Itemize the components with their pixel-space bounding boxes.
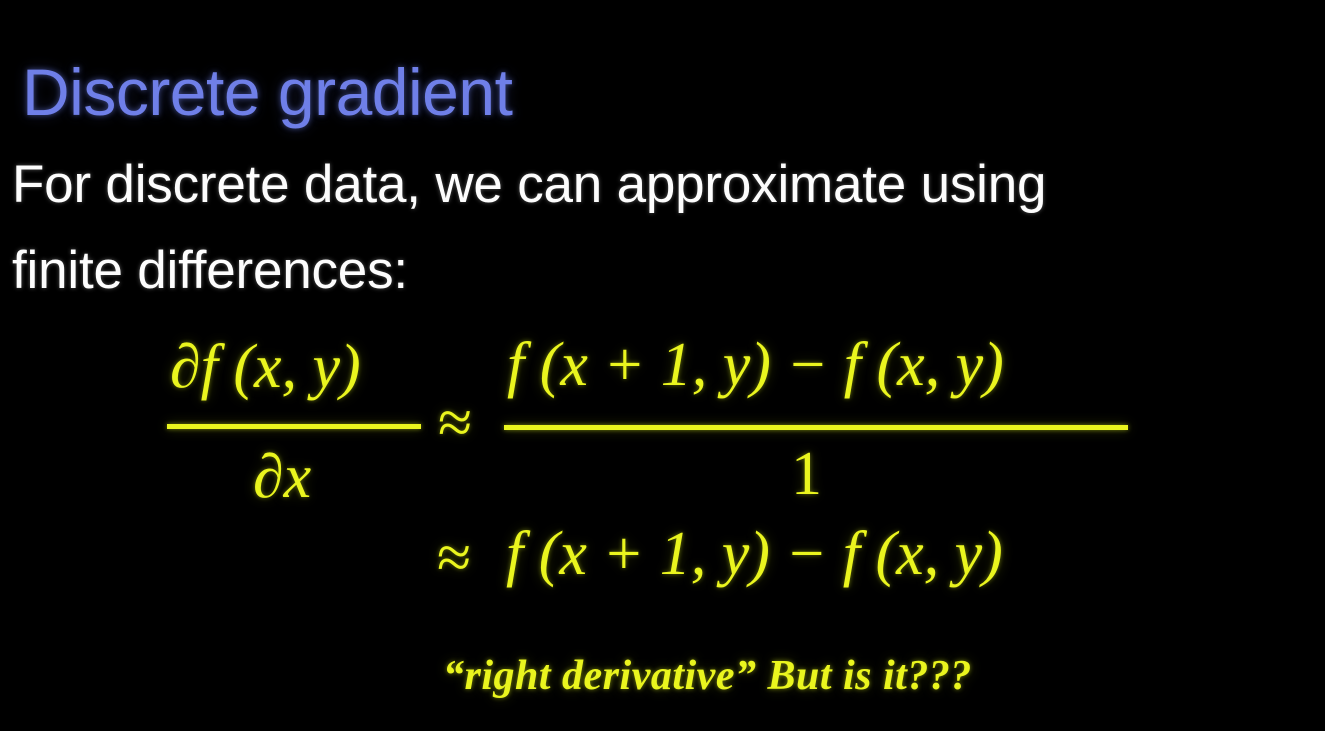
equation-caption: “right derivative” But is it??? — [443, 650, 972, 702]
left-fraction-bar — [167, 424, 421, 429]
approx-equals-icon-1: ≈ — [438, 387, 472, 459]
finite-difference-expression: f (x + 1, y) − f (x, y) — [506, 518, 1003, 590]
finite-difference-denominator: 1 — [791, 438, 822, 510]
body-line-2: finite differences: — [12, 228, 1312, 314]
approx-equals-icon-2: ≈ — [437, 522, 471, 594]
partial-derivative-numerator: ∂f (x, y) — [170, 331, 361, 403]
page-title: Discrete gradient — [22, 48, 512, 136]
body-line-1: For discrete data, we can approximate us… — [12, 142, 1312, 228]
finite-difference-numerator: f (x + 1, y) − f (x, y) — [507, 329, 1004, 401]
slide-canvas: Discrete gradient For discrete data, we … — [0, 0, 1325, 731]
partial-derivative-denominator: ∂x — [253, 441, 311, 513]
right-fraction-bar — [504, 425, 1128, 430]
body-paragraph: For discrete data, we can approximate us… — [12, 142, 1312, 314]
